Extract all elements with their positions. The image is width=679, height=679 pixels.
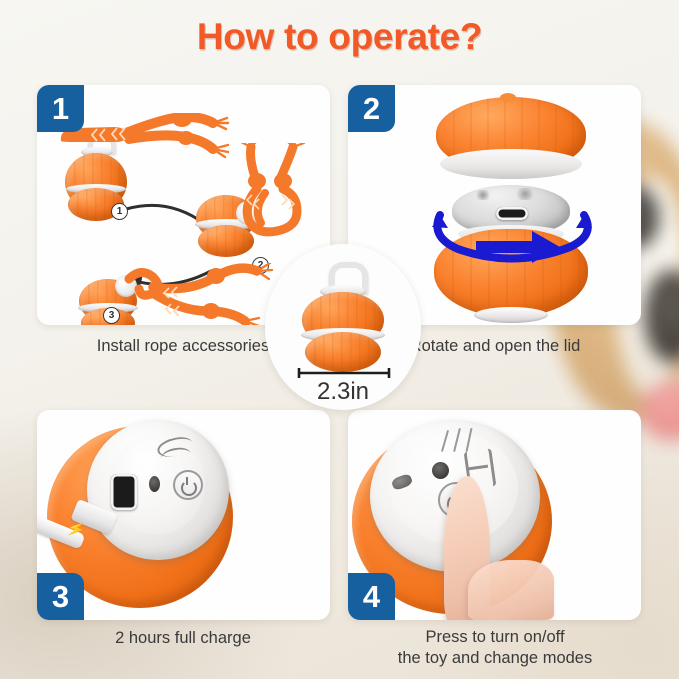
usb-c-port-icon	[111, 474, 137, 510]
speaker-hole-icon	[149, 476, 160, 492]
step-badge-4: 4	[348, 573, 395, 620]
step-badge-1: 1	[37, 85, 84, 132]
speaker-hole-icon	[432, 462, 449, 479]
dimension-line-icon	[296, 368, 392, 378]
step-caption-4-line2: the toy and change modes	[398, 649, 592, 667]
toy-product-view	[296, 262, 392, 374]
substep-marker-1: 1	[111, 203, 128, 220]
step-panel-4: 4	[348, 410, 641, 620]
rope-accessory-2	[235, 143, 330, 253]
rotation-arrow-icon	[424, 193, 604, 269]
infographic-stage: How to operate? 1	[0, 0, 679, 679]
page-title: How to operate?	[0, 16, 679, 58]
toy-lid-lip	[440, 149, 582, 179]
toy-base-foot	[474, 307, 548, 323]
step-panel-3: ⚡ 3	[37, 410, 330, 620]
toy-lower-ball	[305, 332, 381, 372]
step-caption-4: Press to turn on/off the toy and change …	[345, 627, 645, 669]
step-badge-3: 3	[37, 573, 84, 620]
step-caption-3: 2 hours full charge	[33, 628, 333, 649]
substep-marker-3: 3	[103, 307, 120, 324]
step-badge-2: 2	[348, 85, 395, 132]
hand	[468, 560, 554, 620]
toy-top-cover	[87, 420, 229, 560]
measurement-label: 2.3in	[265, 378, 421, 406]
power-button[interactable]	[173, 470, 203, 500]
step-caption-4-line1: Press to turn on/off	[425, 628, 564, 646]
